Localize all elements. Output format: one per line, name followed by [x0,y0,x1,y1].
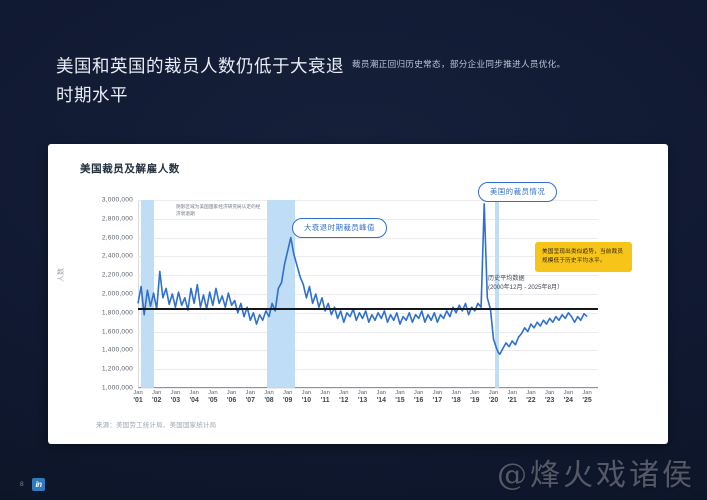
gridline: 1,000,000 [138,388,598,389]
y-axis-tick: 1,600,000 [102,328,133,335]
average-line-label-1: 历史平均数据 [488,275,525,282]
x-axis-tick: Jan'18 [451,390,461,406]
x-axis-tick: Jan'10 [302,390,312,406]
x-axis-tick: Jan'04 [189,390,199,406]
x-axis-tick: Jan'01 [133,390,143,406]
y-axis-tick: 2,800,000 [102,215,133,222]
y-axis-tick: 1,200,000 [102,366,133,373]
x-axis-tick: Jan'07 [246,390,256,406]
y-axis-tick: 1,000,000 [102,385,133,392]
y-axis-tick: 2,600,000 [102,234,133,241]
average-line-label-2: (2000年12月 - 2025年8月） [488,284,563,291]
x-axis-tick: Jan'22 [526,390,536,406]
x-axis-tick: Jan'25 [582,390,592,406]
recession-shading-note: 阴影区域为美国国家经济研究局认定的经济衰退期 [176,204,262,217]
x-axis-tick: Jan'11 [320,390,330,406]
slide-title: 美国和英国的裁员人数仍低于大衰退时期水平 [56,52,356,110]
y-axis-tick: 1,400,000 [102,347,133,354]
x-axis-tick: Jan'17 [433,390,443,406]
x-axis-tick: Jan'14 [377,390,387,406]
x-axis-tick: Jan'16 [414,390,424,406]
x-axis-tick: Jan'23 [545,390,555,406]
x-axis-tick: Jan'15 [395,390,405,406]
average-line [138,308,598,310]
annotation-us-layoffs: 美国的裁员情况 [478,182,557,202]
x-axis-tick: Jan'19 [470,390,480,406]
x-axis-tick: Jan'05 [208,390,218,406]
chart-source: 来源：美国劳工统计局、美国国家统计局 [96,420,216,429]
x-axis-tick: Jan'24 [564,390,574,406]
x-axis-tick: Jan'13 [358,390,368,406]
x-axis-tick: Jan'03 [171,390,181,406]
x-axis-tick: Jan'12 [339,390,349,406]
x-axis-tick: Jan'06 [227,390,237,406]
y-axis-tick: 1,800,000 [102,309,133,316]
slide-background: 美国和英国的裁员人数仍低于大衰退时期水平 裁员潮正回归历史常态，部分企业同步推进… [0,0,707,500]
y-axis-tick: 3,000,000 [102,197,133,204]
x-axis-tick: Jan'02 [152,390,162,406]
x-axis-tick: Jan'21 [507,390,517,406]
annotation-average-line: 历史平均数据 (2000年12月 - 2025年8月） [488,274,563,293]
chart-title: 美国裁员及解雇人数 [80,161,180,176]
annotation-recession-peak: 大衰退时期裁员峰值 [292,218,387,238]
watermark: @烽火戏诸侯 [497,450,695,494]
annotation-callout-box: 美国呈现出类似趋势，当前裁员规模低于历史平均水平。 [535,242,632,272]
y-axis-tick: 2,200,000 [102,272,133,279]
callout-text: 美国呈现出类似趋势，当前裁员规模低于历史平均水平。 [542,249,623,264]
y-axis-tick: 2,000,000 [102,291,133,298]
y-axis-tick: 2,400,000 [102,253,133,260]
x-axis-tick: Jan'08 [264,390,274,406]
x-axis-tick: Jan'20 [489,390,499,406]
page-number: 8 [20,481,24,488]
y-axis-label: 人数 [56,268,66,282]
x-axis-tick: Jan'09 [283,390,293,406]
slide-subtitle: 裁员潮正回归历史常态，部分企业同步推进人员优化。 [352,58,652,71]
linkedin-icon[interactable]: in [32,478,45,491]
x-axis-ticks: Jan'01Jan'02Jan'03Jan'04Jan'05Jan'06Jan'… [138,390,598,412]
chart-card: 美国裁员及解雇人数 人数 3,000,0002,800,0002,600,000… [48,144,668,444]
